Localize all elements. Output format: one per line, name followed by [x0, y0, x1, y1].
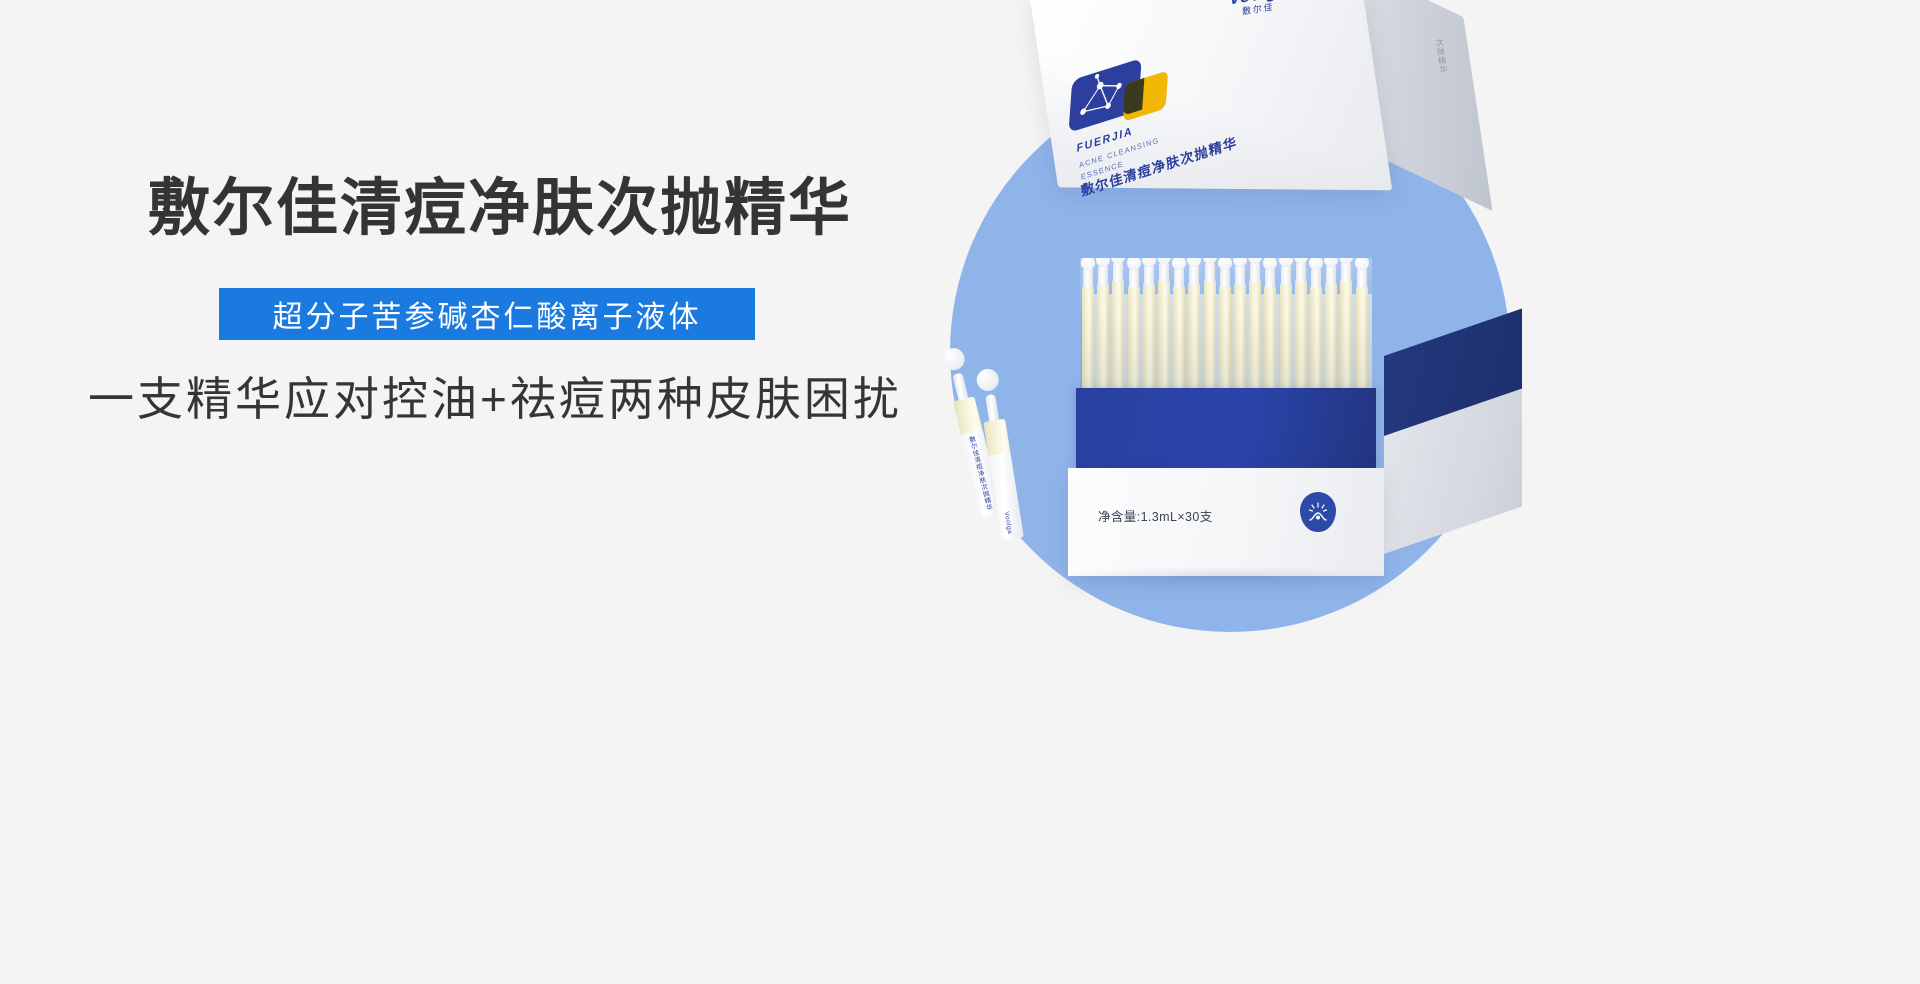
- ampoule-in-tray: [1219, 286, 1231, 390]
- ampoule-in-tray: [1112, 280, 1124, 390]
- ampoule-cap-icon: [1172, 258, 1186, 270]
- ampoule-cap-icon: [1081, 258, 1095, 270]
- ampoule-in-tray: [1158, 280, 1170, 390]
- ampoule-cap-icon: [1309, 258, 1323, 270]
- ampoule-in-tray: [1295, 280, 1307, 390]
- ampoule-in-tray: [1280, 283, 1292, 390]
- ampoule-neck: [1311, 268, 1321, 288]
- ampoule-cap-icon: [1096, 258, 1110, 267]
- ampoule-in-tray: [1097, 283, 1109, 390]
- ampoule-neck: [1220, 268, 1230, 288]
- ampoule-neck: [1357, 268, 1367, 288]
- ampoule-neck: [1174, 268, 1184, 288]
- ampoule-neck: [1205, 262, 1215, 282]
- ampoule-neck: [1113, 262, 1123, 282]
- ampoule-neck: [1189, 265, 1199, 285]
- ampoule-in-tray: [1356, 286, 1368, 390]
- ampoule-cap-icon: [1324, 258, 1338, 267]
- ampoule-in-tray: [1188, 283, 1200, 390]
- net-content-text: 净含量:1.3mL×30支: [1098, 506, 1213, 525]
- ampoule-neck: [1159, 262, 1169, 282]
- box-blue-band: [1076, 388, 1376, 470]
- highlight-badge: 超分子苦参碱杏仁酸离子液体: [219, 288, 755, 340]
- ampoule-cap-icon: [1233, 258, 1247, 267]
- ampoule-cap-icon: [1127, 258, 1141, 270]
- ampoule-cap-icon: [1218, 258, 1232, 270]
- acne-emblem-icon: [1300, 492, 1336, 532]
- product-banner: 敷尔佳清痘净肤次抛精华 超分子苦参碱杏仁酸离子液体 一支精华应对控油+祛痘两种皮…: [0, 0, 1920, 750]
- ampoule-cap-icon: [975, 367, 1000, 392]
- ampoule-cap-icon: [940, 346, 967, 373]
- ampoule-in-tray: [1310, 286, 1322, 390]
- ampoule-in-tray: [1143, 283, 1155, 390]
- page-subtitle: 一支精华应对控油+祛痘两种皮肤困扰: [88, 376, 902, 422]
- ampoule-in-tray: [1264, 286, 1276, 390]
- ampoule-neck: [1250, 262, 1260, 282]
- ampoule-in-tray: [1325, 283, 1337, 390]
- ampoule-neck: [1326, 265, 1336, 285]
- ampoule-neck: [1129, 268, 1139, 288]
- ampoule-neck: [1341, 262, 1351, 282]
- ampoule-in-tray: [1082, 286, 1094, 390]
- ampoule-label-text: Voolga: [1001, 511, 1015, 535]
- loose-ampoules: 敷尔佳清痘净肤次抛精华 Voolga: [942, 326, 1062, 576]
- ampoule-neck: [1083, 268, 1093, 288]
- ampoule-in-tray: [1340, 280, 1352, 390]
- ampoule-cap-icon: [1142, 258, 1156, 267]
- ampoule-tray: [1080, 258, 1372, 390]
- ampoule-neck: [1265, 268, 1275, 288]
- ampoule-in-tray: [1234, 283, 1246, 390]
- ampoule-in-tray: [1249, 280, 1261, 390]
- product-stage: 敷尔佳清痘净肤次抛精华 Voolga Voolga: [880, 0, 1920, 750]
- ampoule-cap-icon: [1187, 258, 1201, 267]
- highlight-badge-label: 超分子苦参碱杏仁酸离子液体: [273, 292, 702, 336]
- ampoule-cap-icon: [1355, 258, 1369, 270]
- ampoule-neck: [1098, 265, 1108, 285]
- ampoule-neck: [1144, 265, 1154, 285]
- ampoule-neck: [1296, 262, 1306, 282]
- ampoule-in-tray: [1128, 286, 1140, 390]
- ampoule-in-tray: [1204, 280, 1216, 390]
- page-title: 敷尔佳清痘净肤次抛精华: [148, 178, 852, 240]
- ampoule-neck: [1281, 265, 1291, 285]
- ampoule-neck: [1235, 265, 1245, 285]
- ampoule-in-tray: [1173, 286, 1185, 390]
- product-shadow: [1050, 566, 1400, 588]
- copy-block: 敷尔佳清痘净肤次抛精华 超分子苦参碱杏仁酸离子液体 一支精华应对控油+祛痘两种皮…: [0, 0, 960, 750]
- ampoule-cap-icon: [1263, 258, 1277, 270]
